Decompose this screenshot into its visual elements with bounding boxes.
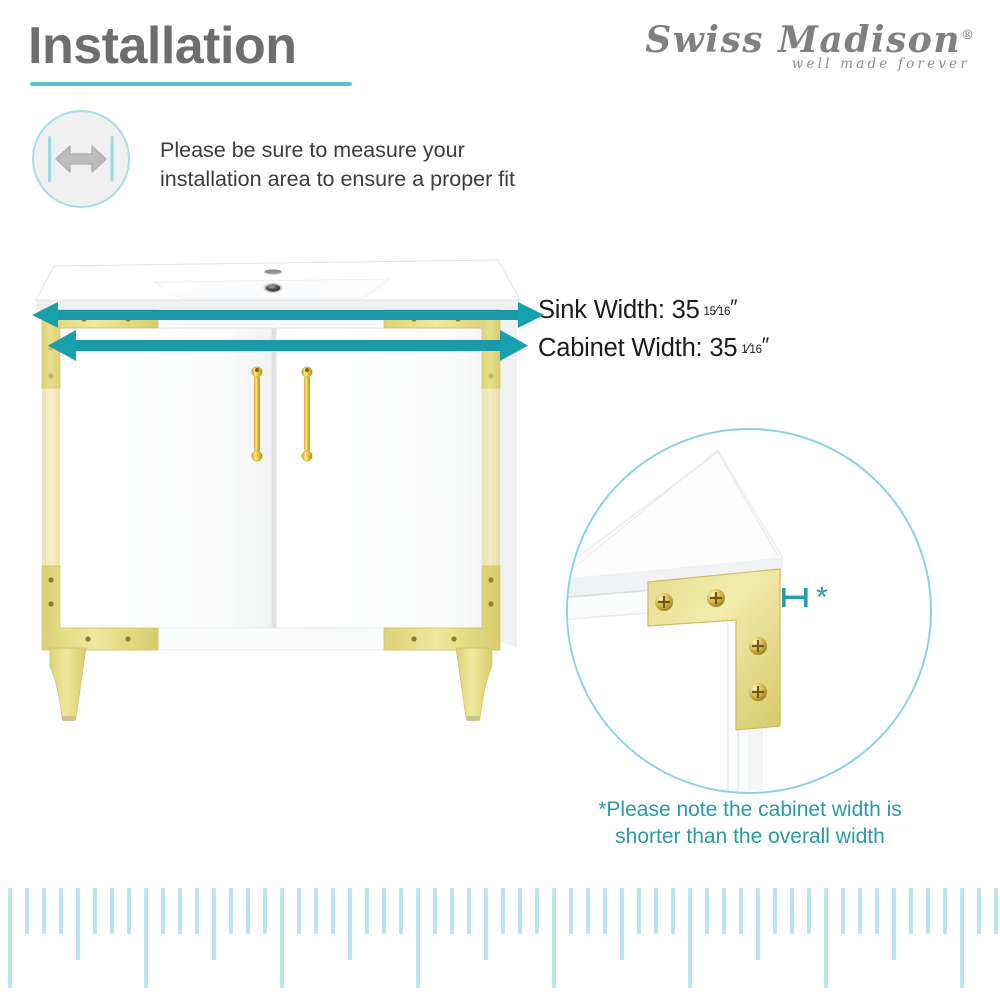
sink-width-numerator: 15: [704, 306, 716, 318]
ruler-tick: [229, 888, 233, 934]
ruler-tick: [637, 888, 641, 934]
ruler-tick: [42, 888, 46, 934]
ruler-tick: [382, 888, 386, 934]
ruler-tick: [586, 888, 590, 934]
ruler-tick: [450, 888, 454, 934]
leg-right: [456, 648, 492, 718]
cabinet-width-unit: ″: [762, 334, 769, 357]
ruler-tick: [365, 888, 369, 934]
cabinet-width-denominator: 16: [750, 344, 762, 356]
sink-width-denominator: 16: [718, 306, 730, 318]
sink-width-unit: ″: [730, 296, 737, 319]
ruler-graphic: [0, 884, 1000, 1000]
ruler-tick: [246, 888, 250, 934]
ruler-tick: [739, 888, 743, 934]
ruler-tick: [535, 888, 539, 934]
leg-left: [50, 648, 86, 718]
horizontal-double-arrow-icon: [34, 112, 128, 206]
ruler-tick: [263, 888, 267, 934]
detail-caption: *Please note the cabinet width is shorte…: [548, 796, 952, 851]
detail-zoom-circle: *: [566, 428, 932, 794]
ruler-tick: [297, 888, 301, 934]
cabinet-width-label-text: Cabinet Width:: [538, 334, 702, 362]
cabinet-width-label: Cabinet Width: 35 1⁄16″: [538, 334, 769, 363]
ruler-tick: [943, 888, 947, 934]
ruler-tick: [569, 888, 573, 934]
ruler-tick: [331, 888, 335, 934]
leg-foot-right: [466, 716, 480, 721]
ruler-tick: [399, 888, 403, 934]
title-underline: [30, 82, 352, 86]
ruler-tick: [127, 888, 131, 934]
detail-asterisk-marker: *: [816, 581, 828, 614]
ruler-tick: [25, 888, 29, 934]
sink-width-label: Sink Width: 35 15⁄16″: [538, 296, 737, 325]
ruler-tick: [314, 888, 318, 934]
ruler-tick: [977, 888, 981, 934]
page-title: Installation: [28, 20, 296, 72]
cabinet-legs: [50, 648, 492, 721]
ruler-tick: [467, 888, 471, 934]
ruler-tick: [688, 888, 692, 988]
ruler-tick: [892, 888, 896, 960]
sink-width-whole: 35: [672, 296, 700, 324]
ruler-tick: [76, 888, 80, 960]
ruler-tick: [110, 888, 114, 934]
ruler-tick: [671, 888, 675, 934]
cabinet-body: [45, 310, 517, 650]
cabinet-width-numerator: 1: [741, 344, 747, 356]
cabinet-width-whole: 35: [709, 334, 737, 362]
brand-name: Swiss Madison®: [645, 22, 974, 60]
ruler-tick: [994, 888, 998, 934]
measure-icon-circle: [32, 110, 130, 208]
ruler-tick: [280, 888, 284, 988]
ruler-tick: [841, 888, 845, 934]
ruler-tick: [926, 888, 930, 934]
ruler-tick: [501, 888, 505, 934]
sink-width-label-text: Sink Width:: [538, 296, 665, 324]
ruler-tick: [518, 888, 522, 934]
ruler-tick: [603, 888, 607, 934]
ruler-tick: [824, 888, 828, 988]
ruler-tick: [144, 888, 148, 988]
cabinet-width-fraction: 1⁄16: [737, 340, 761, 357]
cabinet-door-left[interactable]: [50, 328, 272, 628]
ruler-tick: [161, 888, 165, 934]
sink-width-fraction: 15⁄16: [700, 302, 731, 319]
sink-countertop: [36, 260, 520, 310]
ruler-tick: [722, 888, 726, 934]
ruler-tick: [59, 888, 63, 934]
ruler-tick: [212, 888, 216, 960]
ruler-tick: [909, 888, 913, 934]
ruler-tick: [416, 888, 420, 988]
ruler-tick: [790, 888, 794, 934]
ruler-tick: [552, 888, 556, 988]
ruler-tick: [93, 888, 97, 934]
ruler-tick: [8, 888, 12, 988]
ruler-tick: [705, 888, 709, 934]
leg-foot-left: [62, 716, 76, 721]
ruler-tick: [433, 888, 437, 934]
ruler-tick: [773, 888, 777, 934]
ruler-tick: [960, 888, 964, 988]
brand-name-text: Swiss Madison: [645, 19, 961, 61]
offset-dimension-marker: [782, 588, 808, 607]
ruler-tick: [195, 888, 199, 934]
ruler-tick: [178, 888, 182, 934]
brand-logo: Swiss Madison® well made forever: [645, 22, 974, 72]
ruler-tick: [484, 888, 488, 960]
ruler-tick: [348, 888, 352, 960]
bracket-detail-illustration: *: [568, 430, 930, 792]
ruler-tick: [654, 888, 658, 934]
measure-instruction-text: Please be sure to measure your installat…: [160, 136, 515, 194]
registered-trademark-icon: ®: [961, 28, 974, 43]
ruler-tick: [756, 888, 760, 960]
ruler-tick: [858, 888, 862, 934]
ruler-tick: [620, 888, 624, 960]
ruler-tick: [807, 888, 811, 934]
vanity-illustration: [28, 248, 548, 738]
ruler-tick: [875, 888, 879, 934]
